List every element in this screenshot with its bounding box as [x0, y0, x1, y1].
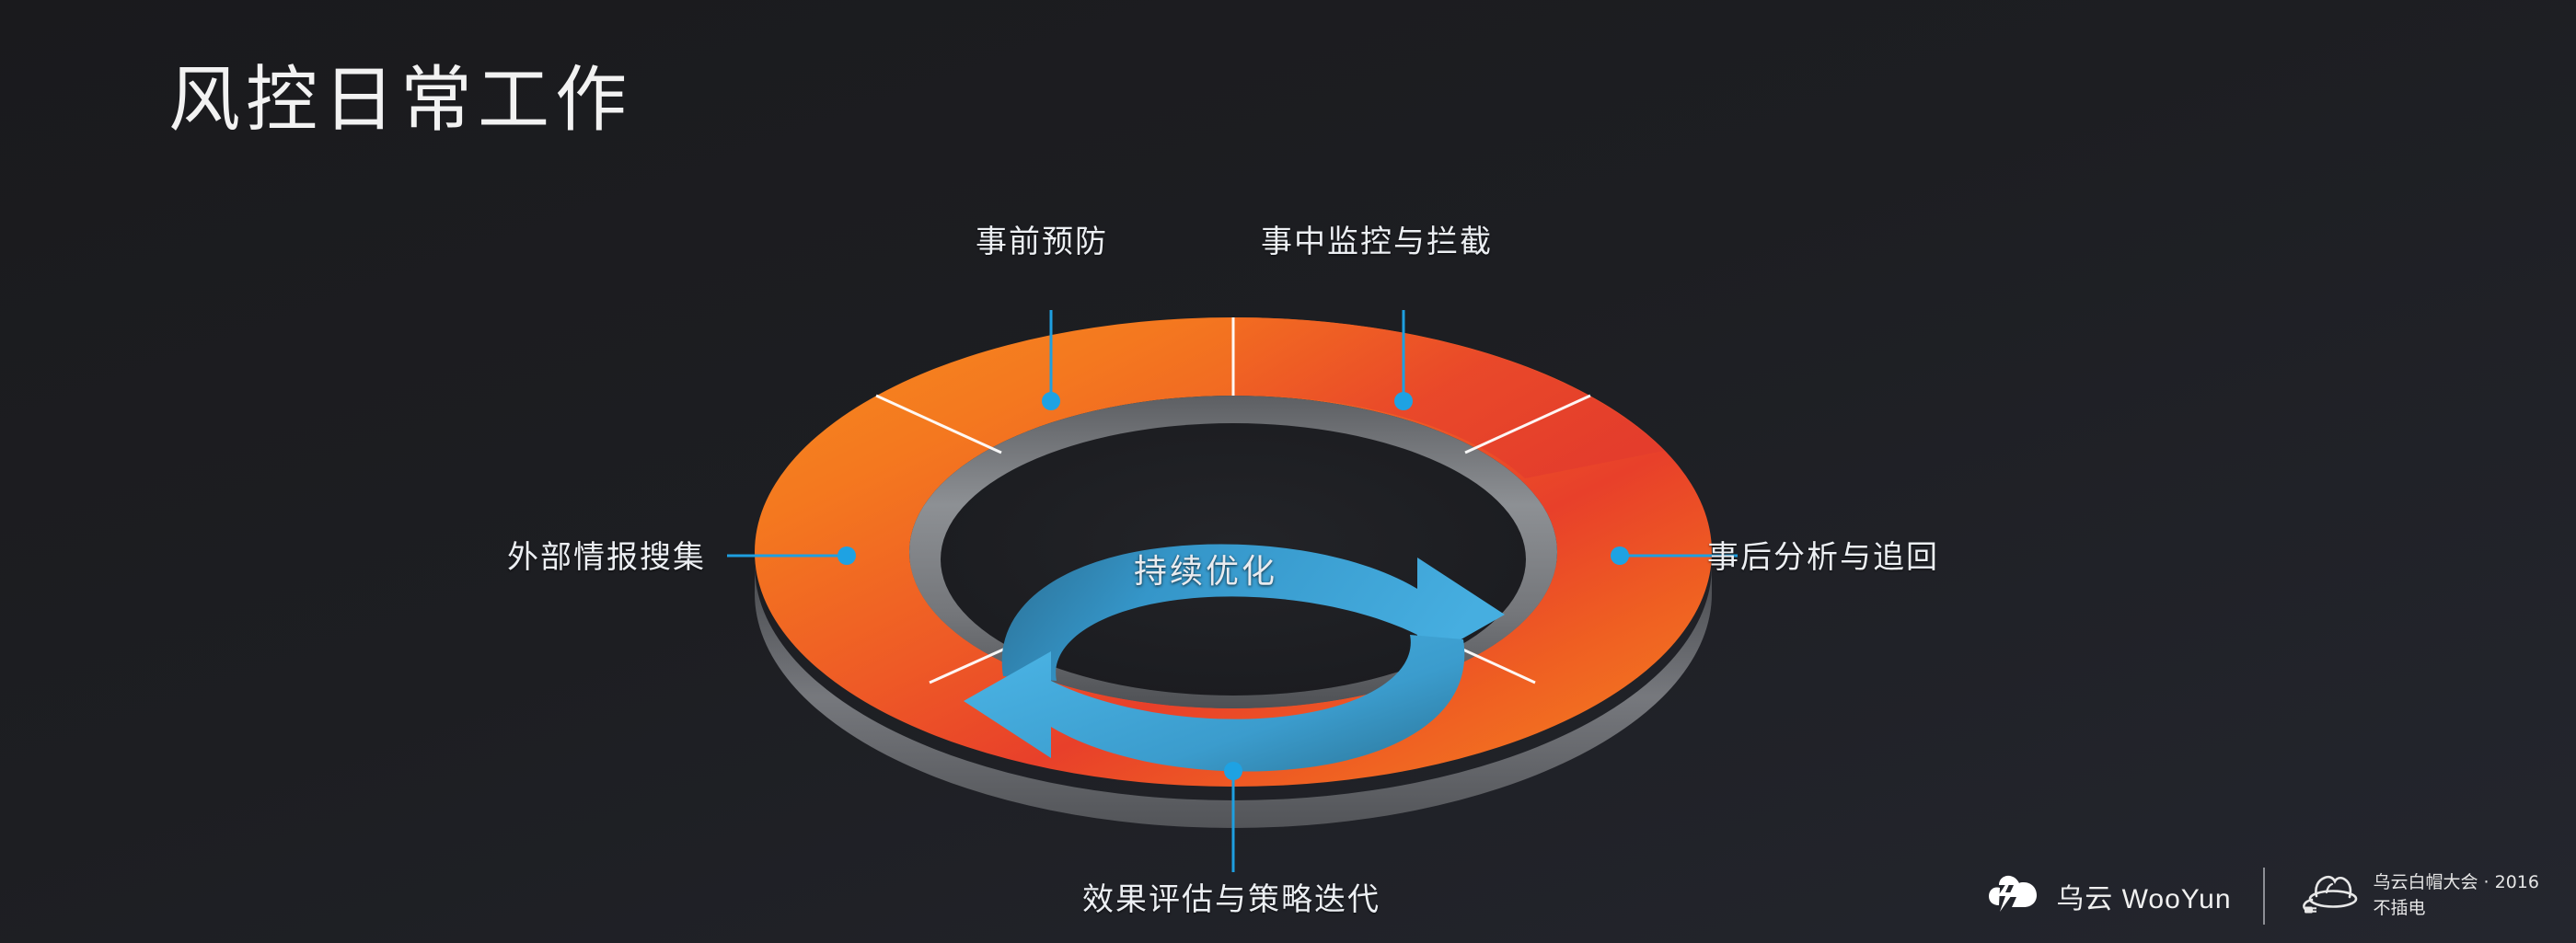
conference-line-1: 乌云白帽大会 · 2016	[2374, 872, 2539, 892]
wooyun-wordmark: 乌云 WooYun	[2056, 876, 2231, 916]
footer-divider	[2263, 868, 2265, 925]
white-hat-plug-icon	[2296, 872, 2359, 921]
conference-brand: 乌云白帽大会 · 2016 不插电	[2296, 870, 2539, 921]
hub-label: 持续优化	[1134, 545, 1277, 592]
ring-3d-base	[755, 417, 1712, 828]
conference-line-2: 不插电	[2374, 896, 2539, 922]
footer-branding: 乌云 WooYun 乌云白帽大	[1986, 868, 2539, 925]
wooyun-brand: 乌云 WooYun	[1986, 874, 2231, 919]
conference-text: 乌云白帽大会 · 2016 不插电	[2374, 870, 2539, 921]
segment-label-monitoring: 事中监控与拦截	[1261, 216, 1493, 261]
segment-label-postmortem: 事后分析与追回	[1707, 532, 1939, 577]
cloud-lightning-icon	[1986, 874, 2039, 919]
segment-label-evaluation: 效果评估与策略迭代	[1082, 874, 1380, 919]
segment-dividers	[876, 317, 1590, 683]
segment-label-intel: 外部情报搜集	[507, 532, 706, 577]
page-title: 风控日常工作	[168, 64, 632, 136]
cycle-diagram	[0, 0, 2576, 943]
slide-canvas: 风控日常工作	[0, 0, 2576, 943]
segment-label-prevention: 事前预防	[976, 216, 1108, 261]
